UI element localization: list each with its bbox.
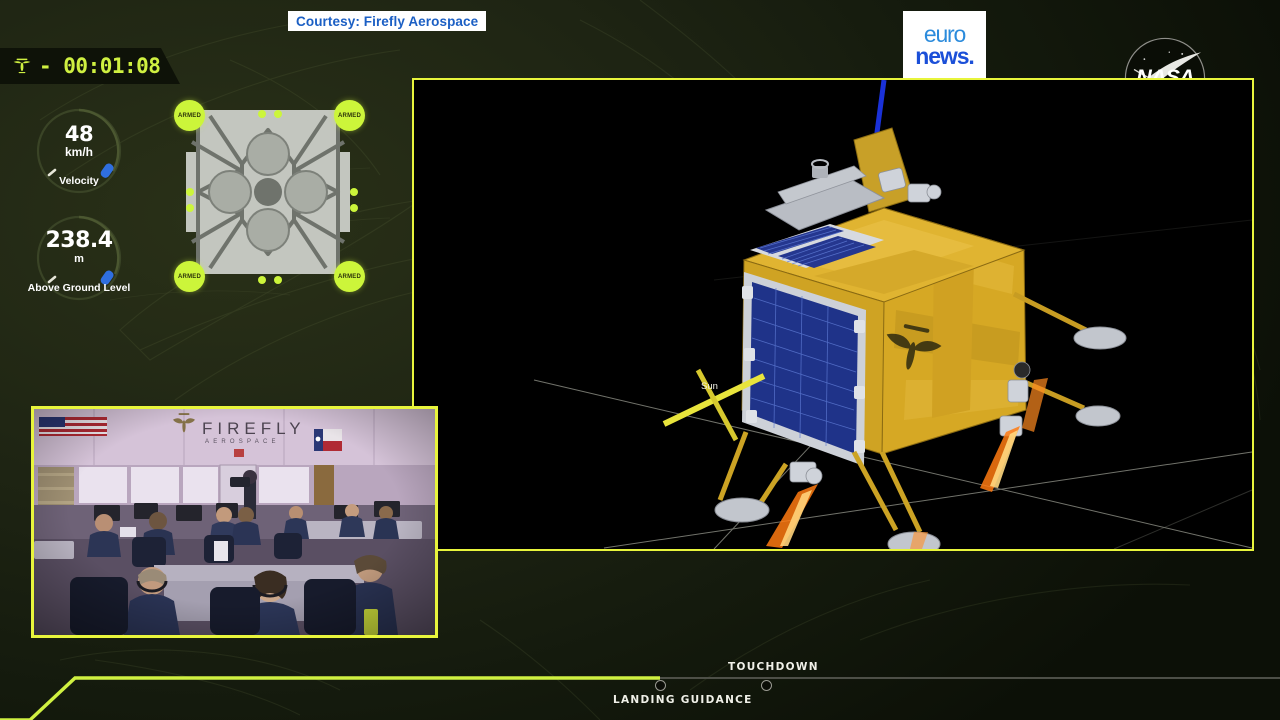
thruster-dot-left-1 xyxy=(186,188,194,196)
altitude-label: Above Ground Level xyxy=(7,282,151,294)
armed-indicator-label: ARMED xyxy=(338,113,361,119)
broadcast-stage: Courtesy: Firefly Aerospace euro news. N… xyxy=(0,0,1280,720)
altitude-value: 238.4 xyxy=(33,228,125,253)
armed-indicator-label: ARMED xyxy=(338,274,361,280)
timeline-node-touchdown[interactable] xyxy=(761,680,772,691)
thruster-dot-left-2 xyxy=(186,204,194,212)
velocity-unit: km/h xyxy=(33,145,125,159)
timeline-node-landing-guidance[interactable] xyxy=(655,680,666,691)
armed-indicator-top-right: ARMED xyxy=(334,100,365,131)
courtesy-banner: Courtesy: Firefly Aerospace xyxy=(288,11,486,31)
thruster-dot-right-2 xyxy=(350,204,358,212)
sun-vector-label: Sun xyxy=(701,381,718,392)
thruster-dot-bottom-2 xyxy=(274,276,282,284)
armed-indicator-label: ARMED xyxy=(178,113,201,119)
lander-3d-viewport[interactable] xyxy=(412,78,1254,551)
armed-indicator-top-left: ARMED xyxy=(174,100,205,131)
mission-control-inset[interactable]: FIREFLY AEROSPACE xyxy=(31,406,438,638)
thruster-dot-top-1 xyxy=(258,110,266,118)
thruster-dot-right-1 xyxy=(350,188,358,196)
mission-timer-value: - 00:01:08 xyxy=(39,54,160,78)
mission-timeline xyxy=(0,640,1280,720)
euronews-logo: euro news. xyxy=(903,11,986,80)
thruster-dot-top-2 xyxy=(274,110,282,118)
euronews-logo-line2: news. xyxy=(915,46,973,67)
lander-render xyxy=(414,80,1252,549)
armed-indicator-label: ARMED xyxy=(178,274,201,280)
altitude-unit: m xyxy=(33,253,125,265)
velocity-label: Velocity xyxy=(7,175,151,187)
thruster-dot-bottom-1 xyxy=(258,276,266,284)
mission-timer: - 00:01:08 xyxy=(0,48,180,84)
firefly-logo-icon xyxy=(12,56,32,76)
velocity-gauge: 48 km/h Velocity xyxy=(33,105,125,197)
altitude-gauge: 238.4 m Above Ground Level xyxy=(33,212,125,304)
armed-indicator-bottom-right: ARMED xyxy=(334,261,365,292)
velocity-value: 48 xyxy=(33,122,125,146)
courtesy-text: Courtesy: Firefly Aerospace xyxy=(296,14,478,29)
armed-indicator-bottom-left: ARMED xyxy=(174,261,205,292)
timeline-label-landing-guidance: LANDING GUIDANCE xyxy=(613,694,753,706)
timeline-label-touchdown: TOUCHDOWN xyxy=(728,661,819,673)
mission-control-video-frame: FIREFLY AEROSPACE xyxy=(34,409,435,635)
